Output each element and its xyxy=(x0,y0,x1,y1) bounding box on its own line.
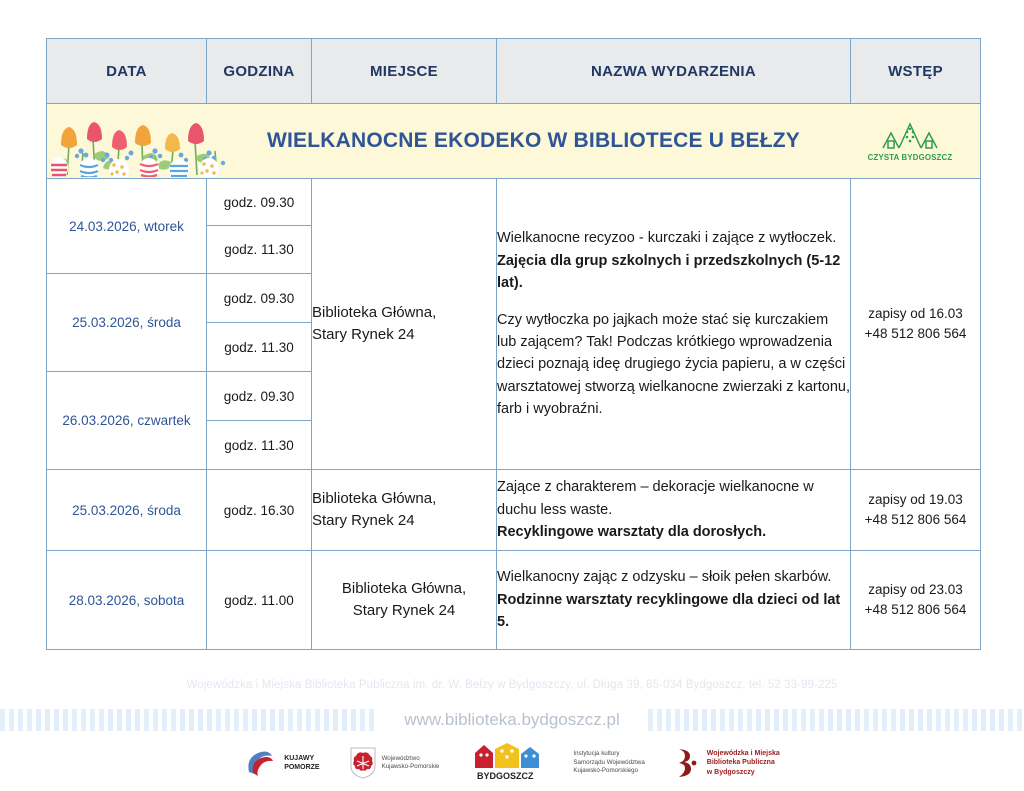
bydgoszcz-wordmark: BYDGOSZCZ xyxy=(477,771,534,781)
event-place-text: Biblioteka Główna, Stary Rynek 24 xyxy=(342,580,466,619)
instytucja-kultury-label: Instytucja kultury Samorządu Województwa… xyxy=(573,750,644,775)
event-date: 26.03.2026, czwartek xyxy=(47,372,207,470)
table-header-row: DATA GODZINA MIEJSCE NAZWA WYDARZENIA WS… xyxy=(47,39,981,104)
entry-signup-date: zapisy od 19.03 xyxy=(851,490,980,510)
table-row: 24.03.2026, wtorek godz. 09.30 Bibliotek… xyxy=(47,179,981,226)
event-entry: zapisy od 16.03 +48 512 806 564 xyxy=(851,179,981,470)
bydgoszcz-logo: BYDGOSZCZ xyxy=(469,742,543,784)
wimbp-mark-icon xyxy=(675,747,701,779)
footer-website-url[interactable]: www.biblioteka.bydgoszcz.pl xyxy=(376,710,647,730)
column-header-data: DATA xyxy=(47,39,207,104)
banner-row: WIELKANOCNE EKODEKO W BIBLIOTECE U BEŁZY xyxy=(47,104,981,179)
event-description: Wielkanocne recyzoo - kurczaki i zające … xyxy=(497,179,851,470)
desc-bold: Rodzinne warsztaty recyklingowe dla dzie… xyxy=(497,592,840,630)
czysta-bydgoszcz-houses-icon xyxy=(879,120,941,150)
event-date: 24.03.2026, wtorek xyxy=(47,179,207,274)
event-description: Zające z charakterem – dekoracje wielkan… xyxy=(497,470,851,551)
entry-signup-date: zapisy od 23.03 xyxy=(851,580,980,600)
desc-bold-1: Zajęcia dla grup szkolnych i przedszkoln… xyxy=(497,253,840,291)
entry-phone: +48 512 806 564 xyxy=(851,600,980,620)
wojewodztwo-label: Województwo Kujawsko-Pomorskie xyxy=(382,755,440,772)
events-schedule-table: DATA GODZINA MIEJSCE NAZWA WYDARZENIA WS… xyxy=(46,38,981,650)
event-time: godz. 16.30 xyxy=(207,470,312,551)
czysta-bydgoszcz-logo: CZYSTA BYDGOSZCZ xyxy=(850,105,980,177)
event-date: 25.03.2026, środa xyxy=(47,274,207,372)
event-time: godz. 09.30 xyxy=(207,372,312,421)
coat-of-arms-shield-icon xyxy=(350,747,376,779)
desc-plain-1: Wielkanocne recyzoo - kurczaki i zające … xyxy=(497,230,836,246)
bydgoszcz-houses-icon: BYDGOSZCZ xyxy=(469,742,543,784)
kujawy-pomorze-logo: KUJAWY POMORZE xyxy=(244,746,319,780)
wojewodztwo-kujawsko-pomorskie-logo: Województwo Kujawsko-Pomorskie xyxy=(350,747,440,779)
easter-tulips-eggs-illustration xyxy=(47,105,237,177)
entry-phone: +48 512 806 564 xyxy=(851,324,980,344)
kujawy-pomorze-swirl-icon xyxy=(244,746,278,780)
kujawy-pomorze-label: KUJAWY POMORZE xyxy=(284,754,319,773)
event-place-text: Biblioteka Główna, Stary Rynek 24 xyxy=(312,490,436,529)
instytucja-kultury-logo: Instytucja kultury Samorządu Województwa… xyxy=(573,750,644,775)
footer-address: Wojewódzka i Miejska Biblioteka Publiczn… xyxy=(0,679,1024,691)
decorative-bar-strip-left xyxy=(0,709,376,731)
partner-logo-strip: KUJAWY POMORZE Województwo Kujawsko-Pomo… xyxy=(0,738,1024,788)
event-description: Wielkanocny zając z odzysku – słoik pełe… xyxy=(497,551,851,650)
event-entry: zapisy od 23.03 +48 512 806 564 xyxy=(851,551,981,650)
event-date: 25.03.2026, środa xyxy=(47,470,207,551)
desc-plain: Wielkanocny zając z odzysku – słoik pełe… xyxy=(497,566,850,588)
event-banner: WIELKANOCNE EKODEKO W BIBLIOTECE U BEŁZY xyxy=(47,104,981,179)
column-header-wstep: WSTĘP xyxy=(851,39,981,104)
column-header-miejsce: MIEJSCE xyxy=(312,39,497,104)
desc-bold: Recyklingowe warsztaty dla dorosłych. xyxy=(497,524,766,540)
event-time: godz. 11.30 xyxy=(207,323,312,372)
wimbp-label: Wojewódzka i Miejska Biblioteka Publiczn… xyxy=(707,749,780,777)
footer-url-row: www.biblioteka.bydgoszcz.pl xyxy=(0,703,1024,737)
czysta-bydgoszcz-label: CZYSTA BYDGOSZCZ xyxy=(868,152,953,162)
event-date: 28.03.2026, sobota xyxy=(47,551,207,650)
desc-plain: Zające z charakterem – dekoracje wielkan… xyxy=(497,476,850,521)
event-entry: zapisy od 19.03 +48 512 806 564 xyxy=(851,470,981,551)
table-row: 25.03.2026, środa godz. 16.30 Biblioteka… xyxy=(47,470,981,551)
event-place: Biblioteka Główna, Stary Rynek 24 xyxy=(312,470,497,551)
event-place: Biblioteka Główna, Stary Rynek 24 xyxy=(312,179,497,470)
event-time: godz. 11.00 xyxy=(207,551,312,650)
column-header-godzina: GODZINA xyxy=(207,39,312,104)
decorative-bar-strip-right xyxy=(648,709,1024,731)
entry-phone: +48 512 806 564 xyxy=(851,510,980,530)
table-row: 28.03.2026, sobota godz. 11.00 Bibliotek… xyxy=(47,551,981,650)
event-time: godz. 11.30 xyxy=(207,421,312,470)
column-header-nazwa-wydarzenia: NAZWA WYDARZENIA xyxy=(497,39,851,104)
event-time: godz. 11.30 xyxy=(207,226,312,274)
event-time: godz. 09.30 xyxy=(207,179,312,226)
entry-signup-date: zapisy od 16.03 xyxy=(851,304,980,324)
banner-title: WIELKANOCNE EKODEKO W BIBLIOTECE U BEŁZY xyxy=(237,129,850,153)
event-place: Biblioteka Główna, Stary Rynek 24 xyxy=(312,551,497,650)
event-place-text: Biblioteka Główna, Stary Rynek 24 xyxy=(312,304,436,343)
event-time: godz. 09.30 xyxy=(207,274,312,323)
desc-plain-2: Czy wytłoczka po jajkach może stać się k… xyxy=(497,309,850,421)
wimbp-logo: Wojewódzka i Miejska Biblioteka Publiczn… xyxy=(675,747,780,779)
